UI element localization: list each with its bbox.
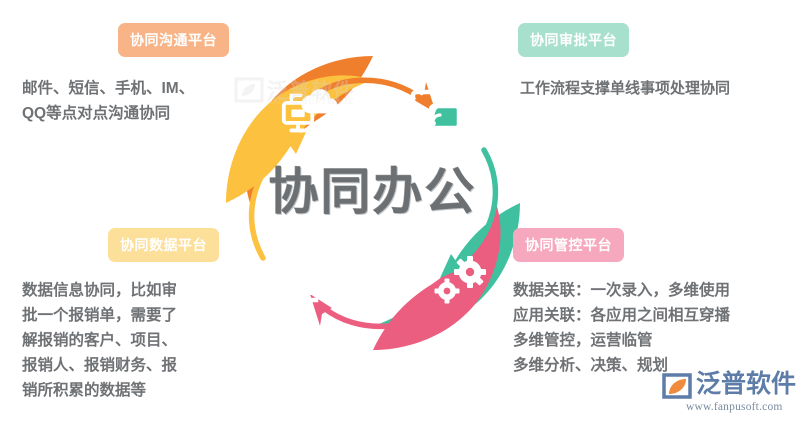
center-title: 协同办公 <box>265 152 480 224</box>
brand-url: www.fanpusoft.com <box>686 401 783 413</box>
description-collaborative-control: 数据关联：一次录入，多维使用 应用关联：各应用之间相互穿播 多维管控，运营临管 … <box>513 278 798 378</box>
badge-collaborative-data[interactable]: 协同数据平台 <box>108 228 219 262</box>
infographic-canvas: 泛普软件 FANPU SOFTWARE 协同办公 协同沟通平台 协同审批平台 协… <box>0 0 800 431</box>
description-collaborative-approval: 工作流程支撑单线事项处理协同 <box>520 76 795 101</box>
description-collaborative-data: 数据信息协同，比如审 批一个报销单，需要了 解报销的客户、项目、 报销人、报销财… <box>22 278 217 403</box>
brand-name: 泛普软件 <box>696 370 796 398</box>
brand-mark-icon <box>662 372 692 400</box>
bar-chart-icon <box>270 256 316 300</box>
badge-collaborative-communication[interactable]: 协同沟通平台 <box>118 23 229 57</box>
badge-collaborative-control[interactable]: 协同管控平台 <box>513 228 624 262</box>
brand-logo[interactable]: 泛普软件 www.fanpusoft.com <box>662 370 797 422</box>
description-collaborative-communication: 邮件、短信、手机、IM、 QQ等点对点沟通协同 <box>22 76 262 126</box>
badge-collaborative-approval[interactable]: 协同审批平台 <box>518 23 629 57</box>
